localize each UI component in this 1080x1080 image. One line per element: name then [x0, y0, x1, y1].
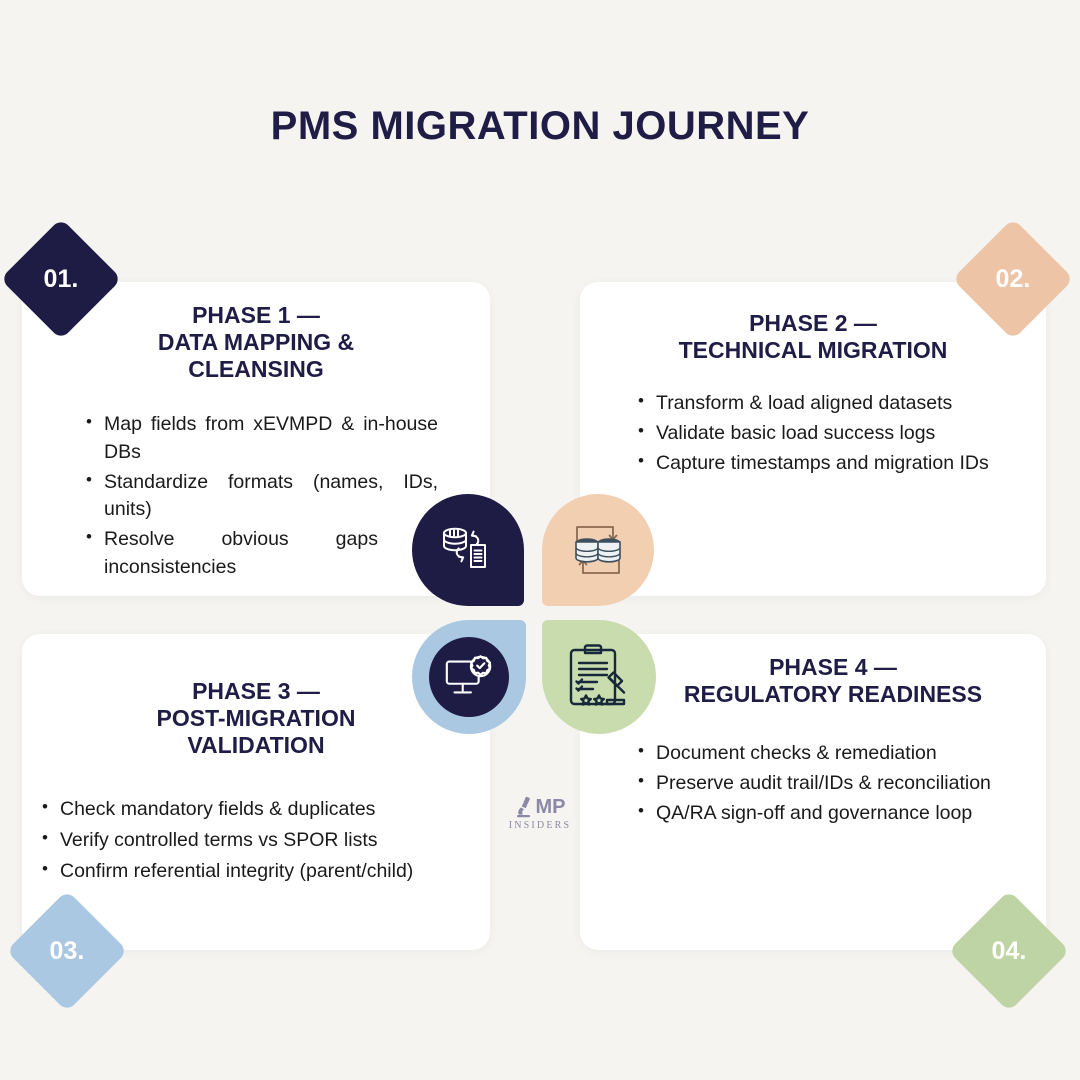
brand-logo-sub: INSIDERS	[492, 820, 588, 831]
phase-badge-02-label: 02.	[996, 264, 1031, 293]
db-left	[576, 538, 598, 562]
list-item: Check mandatory fields & duplicates	[40, 795, 476, 824]
brand-logo: MP INSIDERS	[492, 796, 588, 831]
list-item: Capture timestamps and migration IDs	[636, 450, 1016, 478]
db-right	[598, 538, 620, 562]
list-item: Resolve obvious gaps & inconsistencies	[84, 526, 438, 581]
card-3-title-line-3: VALIDATION	[187, 732, 324, 758]
phase-badge-04-label: 04.	[992, 936, 1027, 965]
card-2-bullet-list: Transform & load aligned datasets Valida…	[636, 390, 1016, 477]
card-3-title-line-1: PHASE 3 —	[192, 678, 320, 704]
database-migration-loop-icon	[542, 494, 654, 606]
list-item: Preserve audit trail/IDs & reconciliatio…	[636, 770, 1022, 798]
phase-badge-03-label: 03.	[50, 936, 85, 965]
list-item: Confirm referential integrity (parent/ch…	[40, 857, 476, 886]
database-document-sync-icon	[412, 494, 524, 606]
card-1-bullet-list: Map fields from xEVMPD & in-house DBs St…	[84, 411, 438, 581]
list-item: Verify controlled terms vs SPOR lists	[40, 826, 476, 855]
clipboard-gavel-glyph	[560, 638, 638, 716]
card-1-title-line-3: CLEANSING	[188, 356, 323, 382]
list-item: Validate basic load success logs	[636, 420, 1016, 448]
list-item: Document checks & remediation	[636, 740, 1022, 768]
card-1-title-line-1: PHASE 1 —	[192, 302, 320, 328]
monitor-verified-inner-disc	[429, 637, 509, 717]
list-item: Standardize formats (names, IDs, units)	[84, 469, 438, 524]
list-item: Map fields from xEVMPD & in-house DBs	[84, 411, 438, 466]
database-document-sync-glyph	[436, 518, 500, 582]
card-4-title-line-2: REGULATORY READINESS	[684, 681, 982, 707]
database-migration-loop-glyph	[560, 512, 636, 588]
card-2-title-line-2: TECHNICAL MIGRATION	[679, 337, 948, 363]
card-3-title-line-2: POST-MIGRATION	[157, 705, 356, 731]
list-item: QA/RA sign-off and governance loop	[636, 800, 1022, 828]
page-title: PMS MIGRATION JOURNEY	[0, 104, 1080, 149]
card-1-title-line-2: DATA MAPPING &	[158, 329, 354, 355]
microscope-icon	[515, 796, 535, 818]
brand-logo-mark: MP	[536, 797, 566, 817]
card-4-title-line-1: PHASE 4 —	[769, 654, 897, 680]
card-3-bullet-list: Check mandatory fields & duplicates Veri…	[40, 795, 476, 886]
monitor-verified-badge-glyph	[442, 650, 496, 704]
clipboard-gavel-icon	[542, 620, 656, 734]
phase-badge-01-label: 01.	[44, 264, 79, 293]
card-2-title-line-1: PHASE 2 —	[749, 310, 877, 336]
monitor-verified-badge-icon	[412, 620, 526, 734]
list-item: Transform & load aligned datasets	[636, 390, 1016, 418]
card-4-bullet-list: Document checks & remediation Preserve a…	[636, 740, 1022, 827]
